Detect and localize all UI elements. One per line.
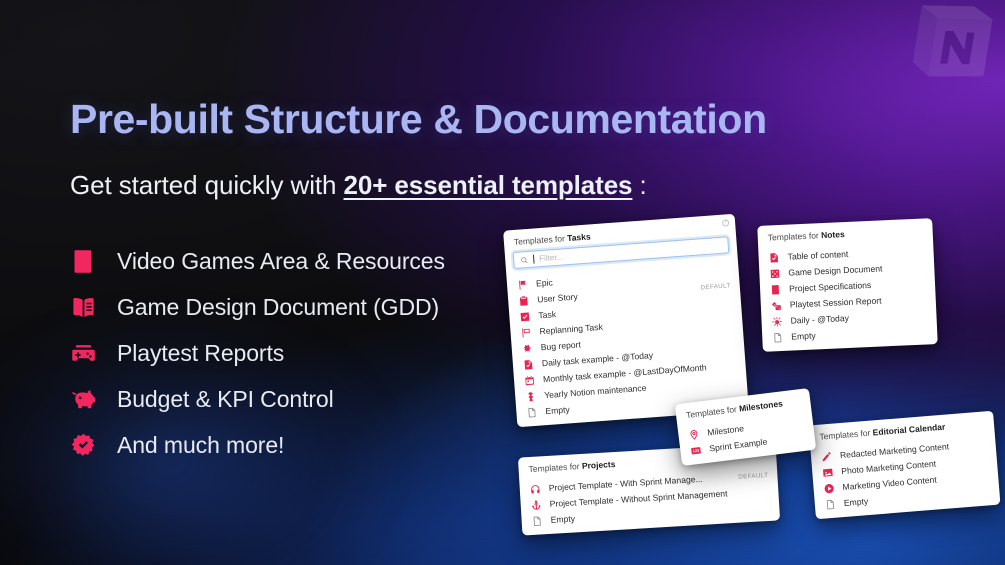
list-item-label: Empty	[550, 513, 575, 524]
templates-for-tasks-card[interactable]: ? Templates for Tasks Filter... Epic	[503, 214, 749, 427]
list-item-label: Empty	[545, 404, 570, 416]
subtitle-suffix: :	[632, 170, 646, 200]
status-badge: DEFAULT	[700, 282, 731, 291]
list-item-label: User Story	[537, 291, 578, 304]
search-placeholder: Filter...	[539, 252, 564, 263]
list-item-label: Empty	[791, 331, 816, 342]
status-badge: DEFAULT	[738, 471, 769, 480]
list-item: Playtest Reports	[70, 337, 445, 369]
template-list: Table of content Game Design Document Pr…	[758, 240, 938, 352]
card-title-prefix: Templates for	[686, 404, 740, 420]
card-title-prefix: Templates for	[768, 230, 822, 242]
file-blank-icon	[531, 515, 543, 527]
book-closed-icon	[770, 284, 781, 295]
list-item-label: Playtest Session Report	[790, 295, 882, 309]
clipboard-icon	[518, 295, 530, 307]
list-item: Game Design Document (GDD)	[70, 291, 445, 323]
headphones-icon	[529, 483, 541, 495]
slide-canvas: Pre-built Structure & Documentation Get …	[0, 0, 1005, 565]
list-item-label: Task	[538, 309, 556, 320]
list-item-label: Daily - @Today	[790, 313, 849, 326]
wrench-icon	[525, 390, 537, 402]
list-item-label: Milestone	[707, 423, 745, 437]
book-open-icon	[70, 294, 97, 321]
file-blank-icon	[526, 406, 538, 418]
image-icon	[822, 466, 834, 478]
feature-label: Playtest Reports	[117, 340, 284, 367]
page-subtitle: Get started quickly with 20+ essential t…	[70, 170, 647, 201]
bug-icon	[521, 342, 533, 354]
number-123-icon: 123	[690, 444, 702, 456]
templates-for-editorial-calendar-card[interactable]: Templates for Editorial Calendar Redacte…	[809, 411, 1001, 520]
file-blank-icon	[772, 331, 783, 342]
list-item-label: Sprint Example	[709, 436, 768, 453]
sparkle-icon	[771, 315, 782, 326]
search-icon	[520, 256, 529, 265]
templates-for-notes-card[interactable]: Templates for Notes Table of content Gam…	[757, 218, 938, 352]
list-item-label: Table of content	[787, 249, 848, 262]
list-item: And much more!	[70, 429, 445, 461]
card-title-name: Editorial Calendar	[872, 422, 945, 438]
gamepad-icon	[70, 340, 97, 367]
map-pin-icon	[688, 428, 700, 440]
card-title-name: Projects	[582, 459, 616, 471]
card-title-prefix: Templates for	[514, 233, 568, 247]
list-item-label: Bug report	[540, 339, 581, 352]
pen-icon	[821, 450, 833, 462]
page-title: Pre-built Structure & Documentation	[70, 96, 767, 143]
card-title-prefix: Templates for	[819, 427, 873, 441]
feature-label: Video Games Area & Resources	[117, 248, 445, 275]
subtitle-accent: 20+ essential templates	[344, 170, 633, 200]
list-item-label: Epic	[536, 277, 553, 288]
feature-label: And much more!	[117, 432, 284, 459]
dice-pair-icon	[771, 300, 782, 311]
flag-outline-icon	[520, 326, 532, 338]
list-item-label: Project Specifications	[789, 280, 872, 294]
calendar-icon	[524, 374, 536, 386]
subtitle-prefix: Get started quickly with	[70, 170, 344, 200]
notion-logo-icon	[898, 0, 1004, 97]
file-check-icon	[768, 252, 779, 263]
anchor-icon	[530, 499, 542, 511]
list-item: Budget & KPI Control	[70, 383, 445, 415]
text-caret	[533, 255, 535, 264]
piggy-bank-icon	[70, 386, 97, 413]
badge-check-icon	[70, 432, 97, 459]
template-list: Redacted Marketing Content Photo Marketi…	[810, 433, 1000, 520]
file-blank-icon	[824, 498, 836, 510]
card-title-name: Milestones	[738, 398, 783, 413]
card-title-name: Notes	[821, 229, 845, 240]
file-check-icon	[523, 358, 535, 370]
feature-label: Game Design Document (GDD)	[117, 294, 439, 321]
feature-label: Budget & KPI Control	[117, 386, 334, 413]
card-title-name: Tasks	[567, 231, 591, 243]
list-item-label: Empty	[843, 496, 868, 508]
list-item: Video Games Area & Resources	[70, 245, 445, 277]
feature-list: Video Games Area & Resources Game Design…	[70, 245, 445, 461]
card-title-prefix: Templates for	[528, 461, 582, 474]
list-item-label: Replanning Task	[539, 322, 603, 337]
dice-icon	[769, 268, 780, 279]
flag-icon	[517, 279, 529, 291]
book-closed-icon	[70, 248, 97, 275]
play-circle-icon	[823, 482, 835, 494]
list-item-label: Game Design Document	[788, 263, 882, 277]
check-square-icon	[519, 311, 531, 323]
